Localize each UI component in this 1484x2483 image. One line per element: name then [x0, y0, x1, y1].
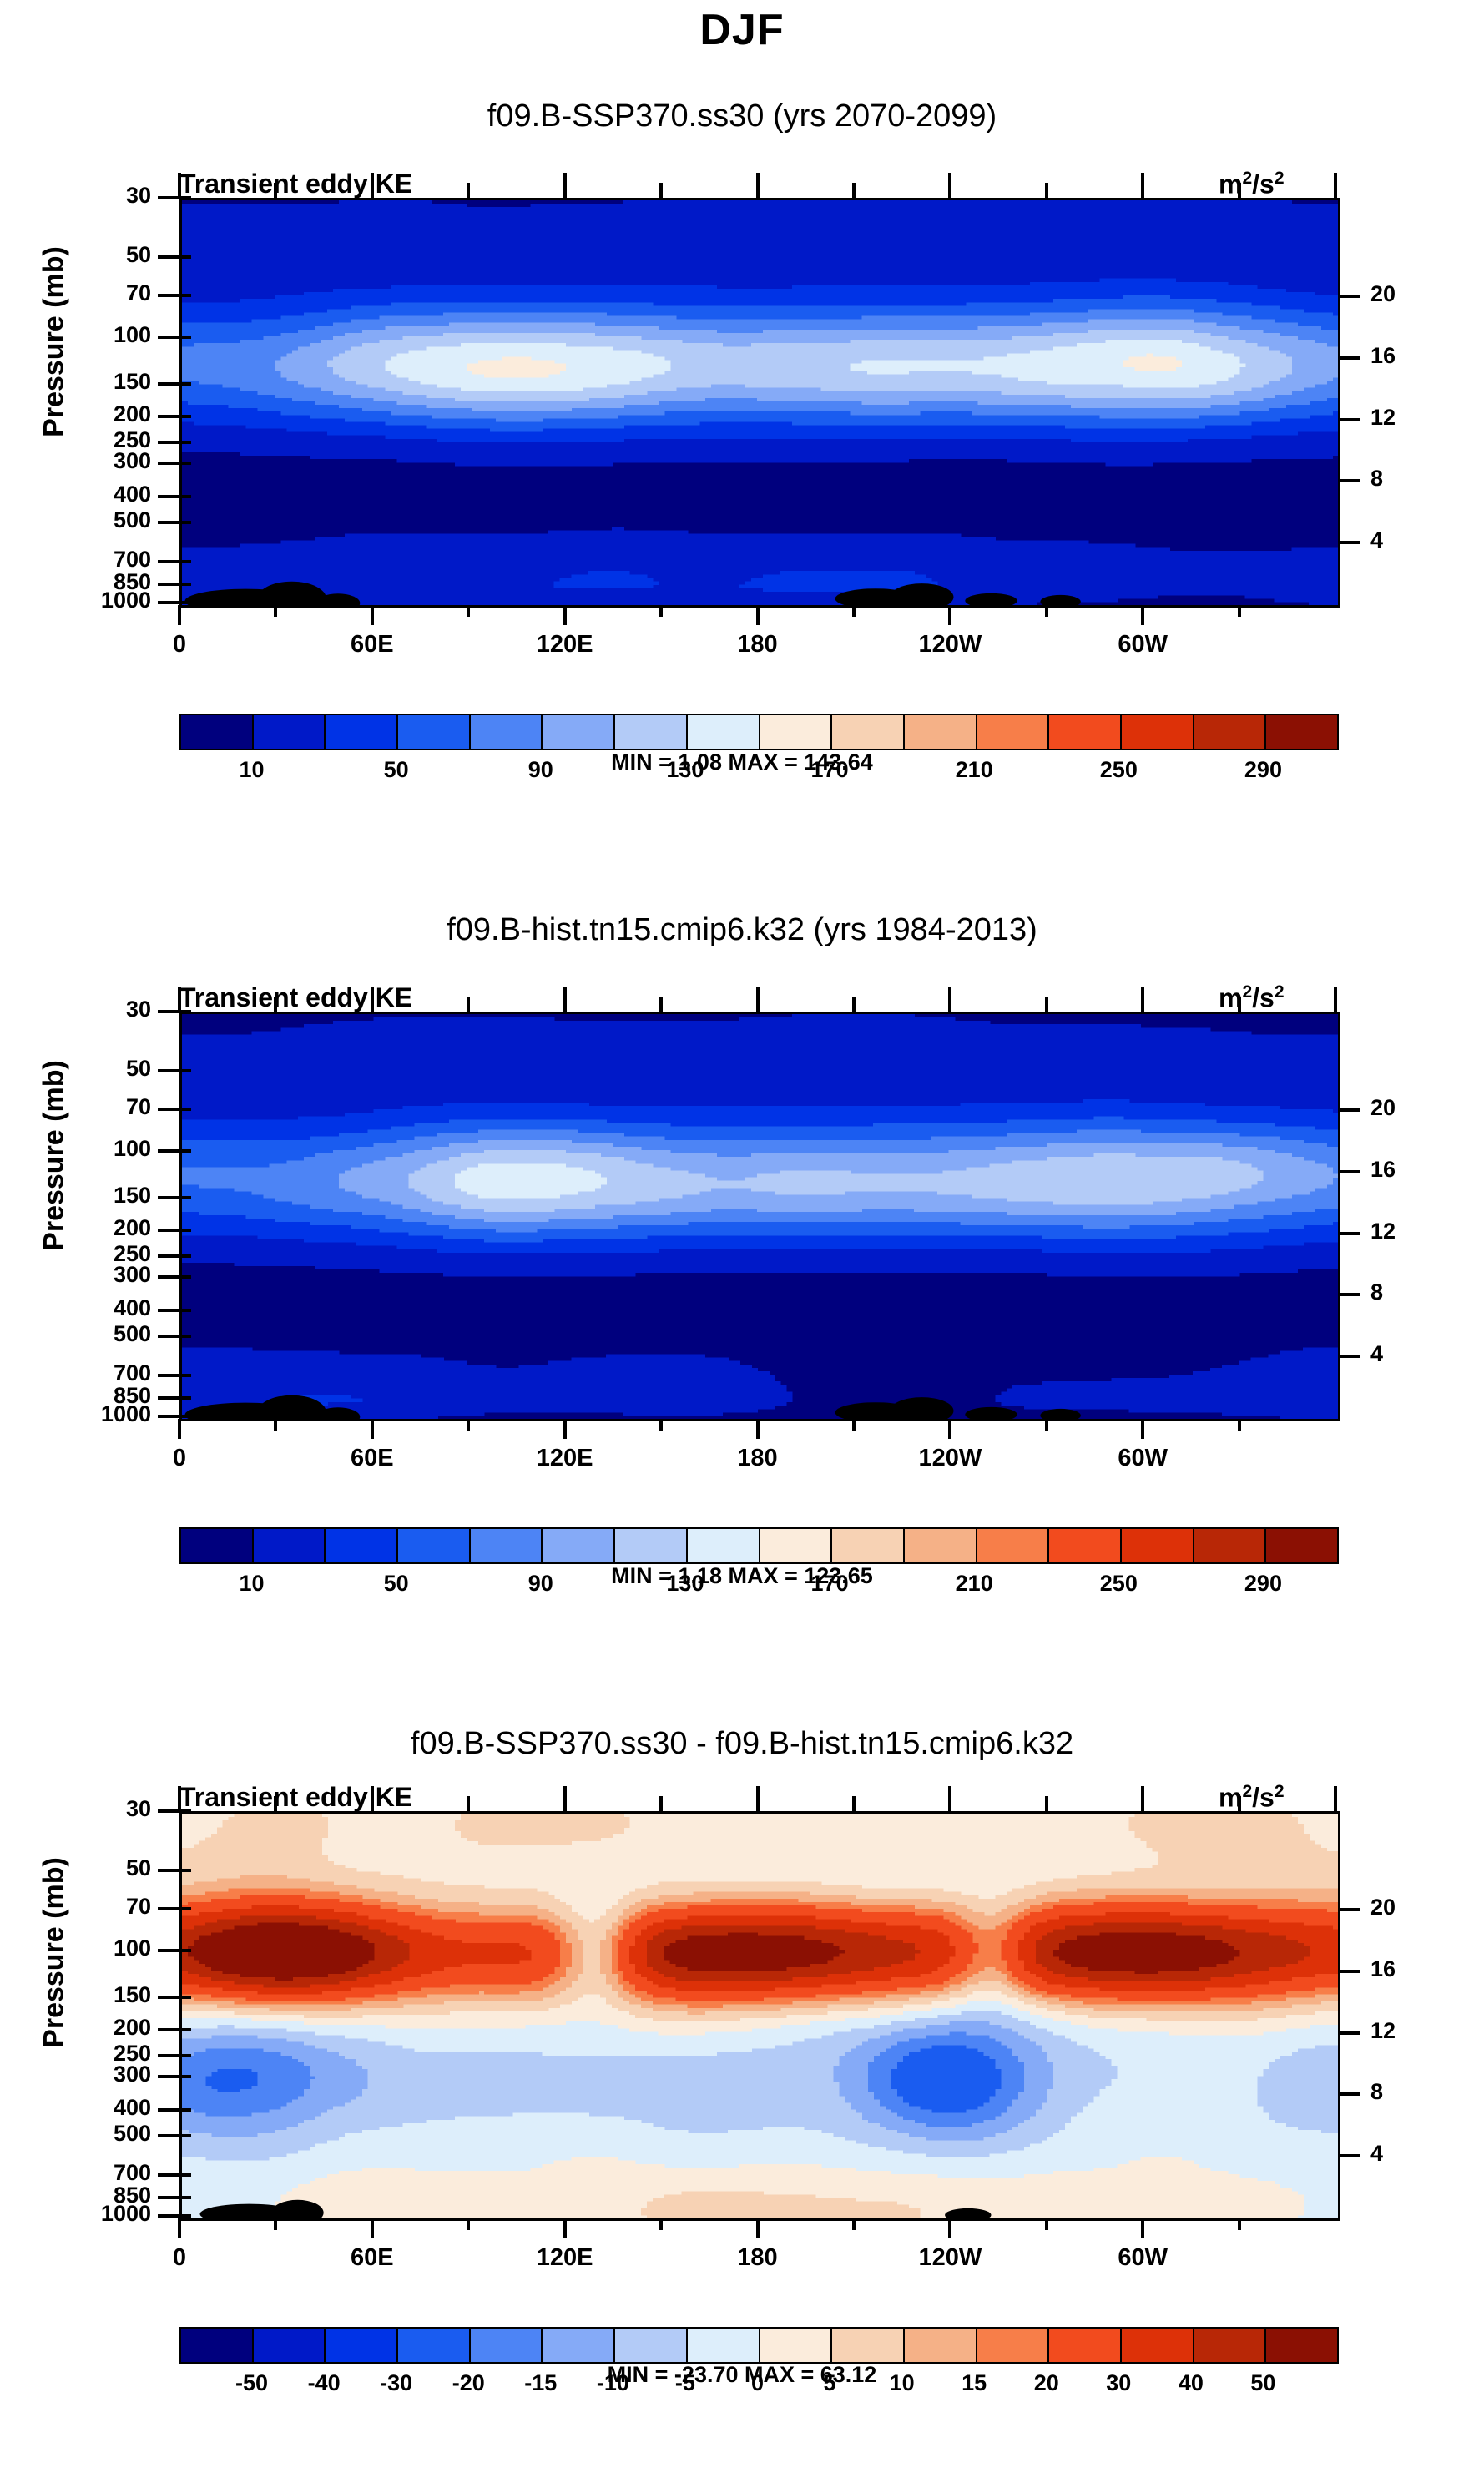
- longitude-tick-mark: [371, 987, 374, 1012]
- plot-area: [179, 1811, 1340, 2221]
- pressure-tick-inner: [179, 462, 191, 465]
- longitude-tick-mark-bottom: [563, 2218, 567, 2238]
- units-label: m2/s2: [1219, 1782, 1285, 1814]
- pressure-tick-label: 200: [54, 401, 151, 427]
- longitude-tick-label: 60W: [1076, 1445, 1209, 1472]
- units-exp2: 2: [1275, 982, 1285, 1002]
- longitude-tick-label: 60W: [1076, 2244, 1209, 2272]
- colorbar-segment: [1194, 2329, 1267, 2362]
- pressure-tick-inner: [179, 1335, 191, 1338]
- colorbar-tick-label: 130: [627, 1571, 744, 1597]
- colorbar-tick-label: 250: [1060, 1571, 1177, 1597]
- units-mid: /s: [1252, 983, 1275, 1013]
- pressure-tick-mark: [158, 382, 179, 386]
- longitude-tick-mark: [563, 1786, 567, 1811]
- colorbar-segment: [1194, 1529, 1267, 1562]
- pressure-tick-mark: [158, 1229, 179, 1232]
- height-tick-label: 16: [1370, 1956, 1446, 1982]
- longitude-minor-tick: [659, 183, 663, 198]
- pressure-tick-inner: [179, 255, 191, 259]
- longitude-minor-tick: [467, 997, 470, 1012]
- contour-field: [182, 1014, 1338, 1419]
- pressure-tick-inner: [179, 1907, 191, 1910]
- height-tick-mark: [1338, 541, 1360, 544]
- pressure-tick-mark: [158, 1196, 179, 1199]
- pressure-tick-inner: [179, 521, 191, 524]
- longitude-tick-mark: [948, 987, 951, 1012]
- longitude-minor-tick-bottom: [1045, 605, 1048, 617]
- longitude-tick-label: 120E: [498, 2244, 632, 2272]
- pressure-tick-inner: [179, 2173, 191, 2177]
- colorbar-segment: [905, 1529, 977, 1562]
- pressure-tick-label: 100: [54, 1136, 151, 1162]
- colorbar-segment: [543, 715, 615, 749]
- longitude-minor-tick: [1238, 997, 1241, 1012]
- pressure-tick-inner: [179, 1869, 191, 1872]
- height-tick-label: 4: [1370, 2141, 1446, 2167]
- longitude-minor-tick-bottom: [274, 605, 277, 617]
- pressure-tick-label: 70: [54, 1094, 151, 1120]
- colorbar-segment: [326, 2329, 398, 2362]
- height-tick-label: 12: [1370, 2018, 1446, 2044]
- colorbar-segment: [1049, 715, 1122, 749]
- pressure-tick-inner: [179, 1010, 191, 1013]
- colorbar-tick-label: 170: [771, 757, 888, 783]
- pressure-tick-mark: [158, 583, 179, 586]
- colorbar-segment: [977, 715, 1050, 749]
- longitude-tick-label: 120E: [498, 631, 632, 659]
- pressure-tick-inner: [179, 2196, 191, 2199]
- colorbar-segment: [326, 1529, 398, 1562]
- longitude-tick-label: 60E: [305, 631, 439, 659]
- longitude-minor-tick: [1045, 997, 1048, 1012]
- colorbar-tick-label: 170: [771, 1571, 888, 1597]
- pressure-tick-mark: [158, 1949, 179, 1952]
- longitude-minor-tick: [274, 1796, 277, 1811]
- longitude-tick-mark: [948, 173, 951, 198]
- colorbar-segment: [471, 1529, 543, 1562]
- pressure-tick-inner: [179, 583, 191, 586]
- pressure-tick-mark: [158, 1809, 179, 1813]
- longitude-tick-mark: [1141, 987, 1144, 1012]
- colorbar-segment: [1266, 715, 1337, 749]
- longitude-tick-label: 180: [691, 631, 825, 659]
- longitude-minor-tick-bottom: [852, 605, 856, 617]
- longitude-tick-label: 0: [113, 631, 246, 659]
- pressure-tick-mark: [158, 2173, 179, 2177]
- height-tick-label: 20: [1370, 1895, 1446, 1920]
- contour-field: [182, 200, 1338, 605]
- longitude-minor-tick: [1045, 183, 1048, 198]
- longitude-tick-mark-bottom: [371, 2218, 374, 2238]
- pressure-tick-label: 1000: [54, 1401, 151, 1427]
- longitude-minor-tick-bottom: [467, 605, 470, 617]
- height-tick-mark: [1338, 1108, 1360, 1112]
- colorbar-tick-label: 90: [482, 757, 599, 783]
- longitude-tick-label: 120E: [498, 1445, 632, 1472]
- pressure-tick-label: 300: [54, 448, 151, 474]
- longitude-tick-mark-bottom: [563, 605, 567, 625]
- pressure-tick-label: 100: [54, 1935, 151, 1961]
- units-label: m2/s2: [1219, 169, 1285, 200]
- contour-field: [182, 1814, 1338, 2218]
- longitude-tick-mark: [756, 987, 760, 1012]
- pressure-tick-label: 150: [54, 1982, 151, 2008]
- panel-ssp370: f09.B-SSP370.ss30 (yrs 2070-2099) Transi…: [0, 0, 1484, 876]
- colorbar: [179, 2327, 1339, 2364]
- colorbar-segment: [254, 1529, 326, 1562]
- panel-title: f09.B-SSP370.ss30 - f09.B-hist.tn15.cmip…: [0, 1726, 1484, 1762]
- height-tick-label: 4: [1370, 527, 1446, 553]
- pressure-tick-mark: [158, 1907, 179, 1910]
- pressure-tick-mark: [158, 1010, 179, 1013]
- units-exp1: 2: [1242, 982, 1252, 1002]
- pressure-tick-label: 500: [54, 507, 151, 533]
- pressure-tick-mark: [158, 1254, 179, 1258]
- pressure-tick-inner: [179, 1196, 191, 1199]
- pressure-tick-inner: [179, 2134, 191, 2137]
- pressure-tick-label: 400: [54, 482, 151, 507]
- longitude-tick-label: 120W: [883, 1445, 1017, 1472]
- variable-label: Transient eddy KE: [179, 169, 412, 199]
- longitude-tick-mark-bottom: [371, 605, 374, 625]
- colorbar: [179, 714, 1339, 750]
- longitude-minor-tick-bottom: [659, 605, 663, 617]
- pressure-tick-inner: [179, 415, 191, 418]
- longitude-tick-mark: [756, 1786, 760, 1811]
- pressure-tick-label: 1000: [54, 2201, 151, 2227]
- pressure-tick-inner: [179, 1275, 191, 1279]
- longitude-minor-tick-bottom: [274, 1419, 277, 1431]
- longitude-tick-mark: [563, 987, 567, 1012]
- height-tick-mark: [1338, 2031, 1360, 2035]
- pressure-tick-inner: [179, 2054, 191, 2057]
- colorbar-segment: [977, 1529, 1050, 1562]
- colorbar-segment: [832, 2329, 905, 2362]
- pressure-tick-label: 50: [54, 1056, 151, 1082]
- pressure-tick-mark: [158, 1869, 179, 1872]
- pressure-tick-inner: [179, 1996, 191, 1999]
- panel-hist: f09.B-hist.tn15.cmip6.k32 (yrs 1984-2013…: [0, 814, 1484, 1690]
- height-tick-mark: [1338, 1293, 1360, 1296]
- height-tick-mark: [1338, 1355, 1360, 1358]
- longitude-tick-mark-bottom: [948, 2218, 951, 2238]
- longitude-minor-tick: [659, 997, 663, 1012]
- colorbar-segment: [615, 2329, 688, 2362]
- longitude-tick-mark-bottom: [756, 2218, 760, 2238]
- longitude-tick-label: 180: [691, 2244, 825, 2272]
- longitude-minor-tick: [1238, 183, 1241, 198]
- colorbar-segment: [398, 715, 471, 749]
- longitude-minor-tick-bottom: [852, 2218, 856, 2230]
- colorbar-segment: [832, 715, 905, 749]
- longitude-tick-mark: [178, 987, 181, 1012]
- height-tick-mark: [1338, 1232, 1360, 1235]
- longitude-minor-tick: [1238, 1796, 1241, 1811]
- colorbar-segment: [688, 2329, 760, 2362]
- colorbar-tick-label: 50: [338, 757, 455, 783]
- pressure-tick-mark: [158, 441, 179, 444]
- longitude-minor-tick: [467, 1796, 470, 1811]
- colorbar: [179, 1527, 1339, 1564]
- pressure-tick-label: 200: [54, 2015, 151, 2041]
- colorbar-segment: [1122, 2329, 1194, 2362]
- colorbar-segment: [615, 1529, 688, 1562]
- longitude-tick-mark-bottom: [756, 605, 760, 625]
- pressure-tick-inner: [179, 2214, 191, 2218]
- colorbar-tick-label: 10: [194, 1571, 310, 1597]
- pressure-tick-mark: [158, 2028, 179, 2031]
- colorbar-segment: [1266, 1529, 1337, 1562]
- pressure-tick-label: 50: [54, 242, 151, 268]
- colorbar-segment: [471, 2329, 543, 2362]
- units-exp2: 2: [1275, 169, 1285, 188]
- colorbar-segment: [1266, 2329, 1337, 2362]
- longitude-tick-mark-bottom: [178, 605, 181, 625]
- height-tick-label: 8: [1370, 2079, 1446, 2105]
- longitude-tick-label: 60E: [305, 1445, 439, 1472]
- pressure-tick-inner: [179, 1254, 191, 1258]
- colorbar-segment: [1122, 715, 1194, 749]
- longitude-tick-mark-bottom: [178, 1419, 181, 1439]
- units-exp1: 2: [1242, 169, 1252, 188]
- longitude-minor-tick-bottom: [1045, 2218, 1048, 2230]
- pressure-tick-label: 500: [54, 1321, 151, 1347]
- pressure-tick-mark: [158, 601, 179, 604]
- height-tick-label: 12: [1370, 405, 1446, 431]
- longitude-minor-tick-bottom: [659, 1419, 663, 1431]
- colorbar-segment: [471, 715, 543, 749]
- longitude-tick-mark: [178, 173, 181, 198]
- pressure-tick-mark: [158, 415, 179, 418]
- longitude-minor-tick: [467, 183, 470, 198]
- colorbar-tick-label: 50: [338, 1571, 455, 1597]
- pressure-tick-inner: [179, 1309, 191, 1312]
- height-tick-mark: [1338, 1170, 1360, 1173]
- pressure-tick-label: 500: [54, 2121, 151, 2147]
- pressure-tick-inner: [179, 1108, 191, 1111]
- colorbar-segment: [181, 715, 254, 749]
- colorbar-segment: [760, 715, 833, 749]
- colorbar-tick-label: 290: [1204, 1571, 1321, 1597]
- pressure-tick-mark: [158, 1309, 179, 1312]
- colorbar-segment: [1122, 1529, 1194, 1562]
- colorbar-segment: [905, 2329, 977, 2362]
- longitude-tick-mark-bottom: [563, 1419, 567, 1439]
- colorbar-segment: [1049, 2329, 1122, 2362]
- colorbar-segment: [977, 2329, 1050, 2362]
- longitude-tick-mark-bottom: [178, 2218, 181, 2238]
- longitude-tick-mark: [1334, 1786, 1337, 1811]
- pressure-tick-mark: [158, 2214, 179, 2218]
- height-tick-label: 8: [1370, 1279, 1446, 1305]
- longitude-minor-tick-bottom: [659, 2218, 663, 2230]
- colorbar-segment: [181, 2329, 254, 2362]
- colorbar-tick-label: 290: [1204, 757, 1321, 783]
- height-tick-label: 20: [1370, 1095, 1446, 1121]
- panel-title: f09.B-hist.tn15.cmip6.k32 (yrs 1984-2013…: [0, 912, 1484, 948]
- colorbar-segment: [615, 715, 688, 749]
- longitude-minor-tick: [274, 183, 277, 198]
- longitude-tick-label: 0: [113, 2244, 246, 2272]
- pressure-tick-mark: [158, 462, 179, 465]
- longitude-tick-mark-bottom: [1141, 1419, 1144, 1439]
- pressure-tick-inner: [179, 382, 191, 386]
- pressure-tick-mark: [158, 255, 179, 259]
- pressure-tick-mark: [158, 2054, 179, 2057]
- colorbar-segment: [326, 715, 398, 749]
- pressure-tick-inner: [179, 601, 191, 604]
- colorbar-segment: [254, 715, 326, 749]
- pressure-tick-label: 150: [54, 369, 151, 395]
- height-tick-mark: [1338, 356, 1360, 360]
- pressure-tick-inner: [179, 1149, 191, 1153]
- pressure-tick-mark: [158, 560, 179, 563]
- longitude-minor-tick: [852, 1796, 856, 1811]
- colorbar-segment: [543, 1529, 615, 1562]
- pressure-tick-label: 70: [54, 1894, 151, 1920]
- colorbar-tick-label: 130: [627, 757, 744, 783]
- longitude-minor-tick-bottom: [467, 2218, 470, 2230]
- longitude-minor-tick-bottom: [1238, 1419, 1241, 1431]
- units-mid: /s: [1252, 169, 1275, 199]
- pressure-tick-label: 30: [54, 1796, 151, 1822]
- pressure-tick-inner: [179, 1415, 191, 1418]
- longitude-tick-mark: [371, 1786, 374, 1811]
- colorbar-segment: [1194, 715, 1267, 749]
- colorbar-segment: [905, 715, 977, 749]
- longitude-tick-mark: [1334, 173, 1337, 198]
- longitude-minor-tick: [659, 1796, 663, 1811]
- colorbar-segment: [543, 2329, 615, 2362]
- pressure-tick-inner: [179, 1396, 191, 1400]
- pressure-tick-mark: [158, 196, 179, 199]
- pressure-tick-mark: [158, 294, 179, 297]
- height-tick-mark: [1338, 295, 1360, 298]
- pressure-tick-inner: [179, 2108, 191, 2112]
- colorbar-tick-label: 90: [482, 1571, 599, 1597]
- longitude-tick-mark-bottom: [948, 605, 951, 625]
- longitude-tick-mark: [756, 173, 760, 198]
- pressure-tick-inner: [179, 1949, 191, 1952]
- height-tick-label: 8: [1370, 466, 1446, 492]
- pressure-tick-label: 300: [54, 2062, 151, 2087]
- pressure-tick-inner: [179, 2028, 191, 2031]
- longitude-tick-label: 120W: [883, 631, 1017, 659]
- height-tick-mark: [1338, 418, 1360, 421]
- pressure-tick-mark: [158, 1374, 179, 1377]
- longitude-minor-tick-bottom: [274, 2218, 277, 2230]
- longitude-tick-label: 60W: [1076, 631, 1209, 659]
- longitude-tick-mark: [948, 1786, 951, 1811]
- longitude-tick-mark: [371, 173, 374, 198]
- longitude-tick-label: 180: [691, 1445, 825, 1472]
- units-exp2: 2: [1275, 1782, 1285, 1801]
- longitude-minor-tick-bottom: [1045, 1419, 1048, 1431]
- longitude-tick-mark: [178, 1786, 181, 1811]
- pressure-tick-mark: [158, 2075, 179, 2078]
- longitude-tick-label: 60E: [305, 2244, 439, 2272]
- colorbar-tick-label: 210: [916, 757, 1032, 783]
- pressure-tick-mark: [158, 1415, 179, 1418]
- pressure-tick-label: 1000: [54, 588, 151, 613]
- height-tick-label: 16: [1370, 1157, 1446, 1183]
- pressure-tick-mark: [158, 1069, 179, 1072]
- colorbar-segment: [832, 1529, 905, 1562]
- longitude-tick-mark: [1141, 173, 1144, 198]
- pressure-tick-mark: [158, 521, 179, 524]
- height-tick-mark: [1338, 1970, 1360, 1973]
- pressure-tick-mark: [158, 1335, 179, 1338]
- height-tick-mark: [1338, 479, 1360, 482]
- colorbar-segment: [688, 1529, 760, 1562]
- panel-diff: f09.B-SSP370.ss30 - f09.B-hist.tn15.cmip…: [0, 1628, 1484, 2483]
- pressure-tick-mark: [158, 1275, 179, 1279]
- pressure-tick-label: 150: [54, 1183, 151, 1209]
- pressure-tick-inner: [179, 294, 191, 297]
- pressure-tick-label: 70: [54, 280, 151, 306]
- pressure-tick-label: 400: [54, 2095, 151, 2121]
- panel-title: f09.B-SSP370.ss30 (yrs 2070-2099): [0, 98, 1484, 134]
- pressure-tick-inner: [179, 2075, 191, 2078]
- pressure-tick-inner: [179, 560, 191, 563]
- pressure-tick-inner: [179, 336, 191, 339]
- longitude-tick-mark: [1141, 1786, 1144, 1811]
- units-exp1: 2: [1242, 1782, 1252, 1801]
- pressure-tick-inner: [179, 196, 191, 199]
- colorbar-segment: [254, 2329, 326, 2362]
- pressure-tick-mark: [158, 495, 179, 498]
- pressure-tick-inner: [179, 1229, 191, 1232]
- longitude-tick-mark: [563, 173, 567, 198]
- units-mid: /s: [1252, 1783, 1275, 1813]
- longitude-minor-tick: [274, 997, 277, 1012]
- height-tick-label: 12: [1370, 1219, 1446, 1244]
- longitude-tick-mark-bottom: [756, 1419, 760, 1439]
- pressure-tick-mark: [158, 2134, 179, 2137]
- pressure-tick-inner: [179, 495, 191, 498]
- variable-label: Transient eddy KE: [179, 982, 412, 1013]
- colorbar-tick-label: 10: [194, 757, 310, 783]
- colorbar-tick-label: 50: [1213, 2370, 1313, 2396]
- height-tick-mark: [1338, 2154, 1360, 2157]
- pressure-tick-inner: [179, 1069, 191, 1072]
- pressure-tick-mark: [158, 2196, 179, 2199]
- colorbar-segment: [1049, 1529, 1122, 1562]
- longitude-tick-mark-bottom: [948, 1419, 951, 1439]
- colorbar-segment: [760, 2329, 833, 2362]
- pressure-tick-mark: [158, 2108, 179, 2112]
- colorbar-segment: [760, 1529, 833, 1562]
- pressure-tick-label: 50: [54, 1855, 151, 1881]
- pressure-tick-mark: [158, 1149, 179, 1153]
- pressure-tick-mark: [158, 1996, 179, 1999]
- longitude-minor-tick-bottom: [467, 1419, 470, 1431]
- longitude-tick-mark-bottom: [1141, 2218, 1144, 2238]
- plot-area: [179, 198, 1340, 608]
- longitude-tick-mark-bottom: [371, 1419, 374, 1439]
- longitude-minor-tick: [852, 997, 856, 1012]
- colorbar-tick-label: 210: [916, 1571, 1032, 1597]
- height-tick-mark: [1338, 1908, 1360, 1911]
- pressure-tick-label: 300: [54, 1262, 151, 1288]
- pressure-tick-inner: [179, 441, 191, 444]
- units-label: m2/s2: [1219, 982, 1285, 1014]
- colorbar-segment: [688, 715, 760, 749]
- pressure-tick-label: 30: [54, 997, 151, 1022]
- longitude-tick-mark: [1334, 987, 1337, 1012]
- pressure-tick-label: 200: [54, 1215, 151, 1241]
